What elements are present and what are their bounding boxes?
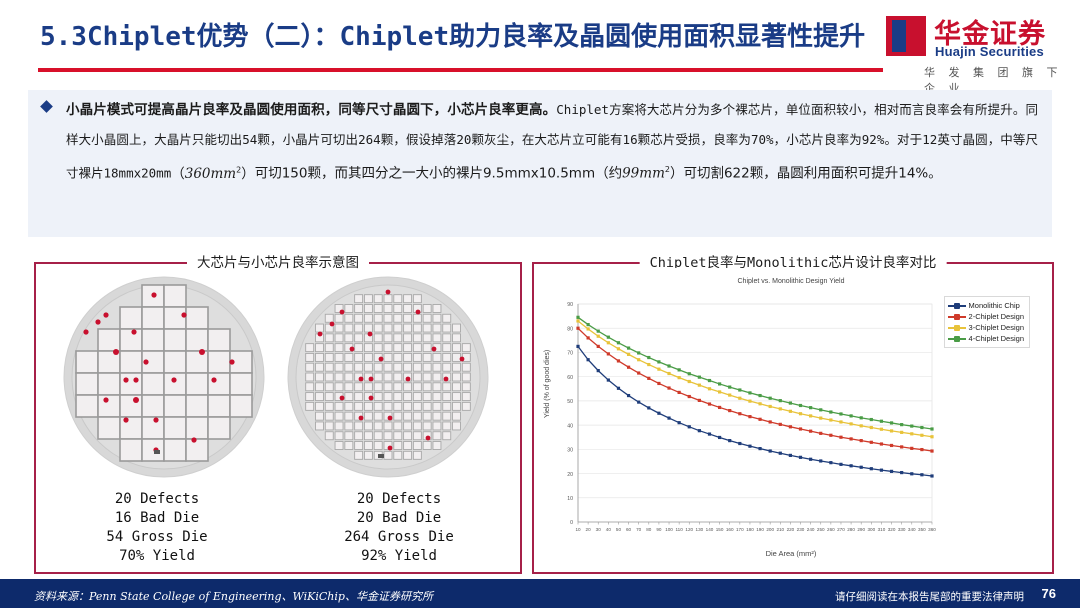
body-tail-text: 可切割622颗，晶圆利用面积可提升14%。 bbox=[683, 166, 941, 182]
slide-footer: 资料来源：Penn State College of Engineering、W… bbox=[0, 582, 1080, 608]
svg-text:130: 130 bbox=[696, 527, 704, 532]
svg-text:100: 100 bbox=[665, 527, 673, 532]
large-die-wafer bbox=[58, 274, 270, 480]
title-underline bbox=[38, 68, 883, 72]
body-end-text: ） bbox=[670, 166, 684, 182]
legend-swatch-icon bbox=[948, 312, 966, 321]
legend-label: Monolithic Chip bbox=[969, 301, 1020, 310]
svg-text:280: 280 bbox=[847, 527, 855, 532]
legend-item: 4-Chiplet Design bbox=[948, 333, 1024, 344]
svg-text:230: 230 bbox=[797, 527, 805, 532]
legend-swatch-icon bbox=[948, 323, 966, 332]
svg-text:90: 90 bbox=[567, 302, 573, 308]
stat-line: 92% Yield bbox=[299, 547, 499, 566]
svg-text:50: 50 bbox=[567, 399, 573, 405]
right-panel: Chiplet良率与Monolithic芯片设计良率对比 Chiplet vs.… bbox=[532, 262, 1054, 574]
stat-line: 20 Defects bbox=[299, 490, 499, 509]
body-area1: （360mm2） bbox=[171, 166, 254, 182]
svg-text:110: 110 bbox=[675, 527, 683, 532]
svg-text:30: 30 bbox=[596, 527, 602, 532]
large-die-stats: 20 Defects 16 Bad Die 54 Gross Die 70% Y… bbox=[57, 490, 257, 566]
page-title: 5.3Chiplet优势（二）：Chiplet助力良率及晶圆使用面积显著性提升 bbox=[40, 16, 870, 53]
svg-text:160: 160 bbox=[726, 527, 734, 532]
logo-mark-icon bbox=[886, 16, 926, 56]
company-logo: 华金证券 Huajin Securities 华 发 集 团 旗 下 企 业 bbox=[886, 12, 1066, 86]
left-panel-caption: 大芯片与小芯片良率示意图 bbox=[187, 251, 369, 271]
svg-text:320: 320 bbox=[888, 527, 896, 532]
svg-text:170: 170 bbox=[736, 527, 744, 532]
svg-text:300: 300 bbox=[867, 527, 875, 532]
svg-text:10: 10 bbox=[567, 496, 573, 502]
svg-text:120: 120 bbox=[685, 527, 693, 532]
wafer-diagrams bbox=[36, 274, 520, 484]
left-panel: 大芯片与小芯片良率示意图 bbox=[34, 262, 522, 574]
chart-y-axis-label: Yield (% of good dies) bbox=[544, 350, 551, 418]
svg-text:20: 20 bbox=[567, 472, 573, 478]
svg-text:80: 80 bbox=[646, 527, 652, 532]
svg-text:40: 40 bbox=[567, 423, 573, 429]
svg-text:190: 190 bbox=[756, 527, 764, 532]
stat-line: 54 Gross Die bbox=[57, 528, 257, 547]
stat-line: 20 Defects bbox=[57, 490, 257, 509]
legend-item: 2-Chiplet Design bbox=[948, 311, 1024, 322]
logo-mark-inner-icon bbox=[892, 20, 906, 52]
svg-text:40: 40 bbox=[606, 527, 612, 532]
body-textbox: 小晶片模式可提高晶片良率及晶圆使用面积，同等尺寸晶圆下，小芯片良率更高。Chip… bbox=[28, 90, 1052, 237]
body-mid-text: 可切150颗，而其四分之一大小的裸片9.5mmx10.5mm（约 bbox=[255, 166, 622, 182]
stat-line: 70% Yield bbox=[57, 547, 257, 566]
svg-text:60: 60 bbox=[567, 375, 573, 381]
legend-swatch-icon bbox=[948, 334, 966, 343]
svg-text:0: 0 bbox=[570, 520, 573, 526]
svg-text:60: 60 bbox=[626, 527, 632, 532]
svg-text:340: 340 bbox=[908, 527, 916, 532]
svg-text:220: 220 bbox=[787, 527, 795, 532]
svg-text:150: 150 bbox=[716, 527, 724, 532]
stat-line: 16 Bad Die bbox=[57, 509, 257, 528]
yield-chart: Chiplet vs. Monolithic Design Yield 0102… bbox=[538, 268, 1044, 564]
footer-legal-note: 请仔细阅读在本报告尾部的重要法律声明 bbox=[835, 589, 1024, 604]
footer-source: 资料来源：Penn State College of Engineering、W… bbox=[34, 588, 433, 604]
diamond-bullet-icon bbox=[40, 100, 53, 113]
body-area2: 99mm bbox=[622, 166, 665, 182]
svg-text:290: 290 bbox=[857, 527, 865, 532]
svg-text:260: 260 bbox=[827, 527, 835, 532]
svg-text:210: 210 bbox=[776, 527, 784, 532]
stat-line: 264 Gross Die bbox=[299, 528, 499, 547]
svg-text:20: 20 bbox=[586, 527, 592, 532]
svg-text:350: 350 bbox=[918, 527, 926, 532]
slide-header: 5.3Chiplet优势（二）：Chiplet助力良率及晶圆使用面积显著性提升 … bbox=[0, 0, 1080, 88]
legend-label: 4-Chiplet Design bbox=[969, 334, 1024, 343]
slide: 5.3Chiplet优势（二）：Chiplet助力良率及晶圆使用面积显著性提升 … bbox=[0, 0, 1080, 608]
svg-text:10: 10 bbox=[575, 527, 581, 532]
svg-text:180: 180 bbox=[746, 527, 754, 532]
stat-line: 20 Bad Die bbox=[299, 509, 499, 528]
body-lead-text: 小晶片模式可提高晶片良率及晶圆使用面积，同等尺寸晶圆下，小芯片良率更高。 bbox=[66, 102, 556, 118]
svg-text:140: 140 bbox=[706, 527, 714, 532]
wafer-stats: 20 Defects 16 Bad Die 54 Gross Die 70% Y… bbox=[36, 490, 520, 566]
svg-text:50: 50 bbox=[616, 527, 622, 532]
svg-text:310: 310 bbox=[878, 527, 886, 532]
svg-text:250: 250 bbox=[817, 527, 825, 532]
page-number: 76 bbox=[1042, 586, 1056, 601]
svg-text:360: 360 bbox=[928, 527, 936, 532]
small-die-stats: 20 Defects 20 Bad Die 264 Gross Die 92% … bbox=[299, 490, 499, 566]
svg-text:70: 70 bbox=[636, 527, 642, 532]
svg-text:30: 30 bbox=[567, 448, 573, 454]
legend-label: 3-Chiplet Design bbox=[969, 323, 1024, 332]
svg-text:270: 270 bbox=[837, 527, 845, 532]
legend-swatch-icon bbox=[948, 301, 966, 310]
chart-x-axis-label: Die Area (mm²) bbox=[538, 549, 1044, 558]
legend-item: Monolithic Chip bbox=[948, 300, 1024, 311]
small-die-wafer bbox=[282, 274, 494, 480]
svg-text:330: 330 bbox=[898, 527, 906, 532]
logo-company-en: Huajin Securities bbox=[935, 44, 1044, 59]
svg-text:90: 90 bbox=[656, 527, 662, 532]
body-paragraph: 小晶片模式可提高晶片良率及晶圆使用面积，同等尺寸晶圆下，小芯片良率更高。Chip… bbox=[66, 95, 1038, 189]
logo-mark-inner2-icon bbox=[906, 30, 920, 42]
svg-text:200: 200 bbox=[766, 527, 774, 532]
svg-text:80: 80 bbox=[567, 326, 573, 332]
chart-legend: Monolithic Chip 2-Chiplet Design 3-Chipl… bbox=[944, 296, 1030, 348]
legend-label: 2-Chiplet Design bbox=[969, 312, 1024, 321]
svg-text:240: 240 bbox=[807, 527, 815, 532]
legend-item: 3-Chiplet Design bbox=[948, 322, 1024, 333]
svg-text:70: 70 bbox=[567, 351, 573, 357]
